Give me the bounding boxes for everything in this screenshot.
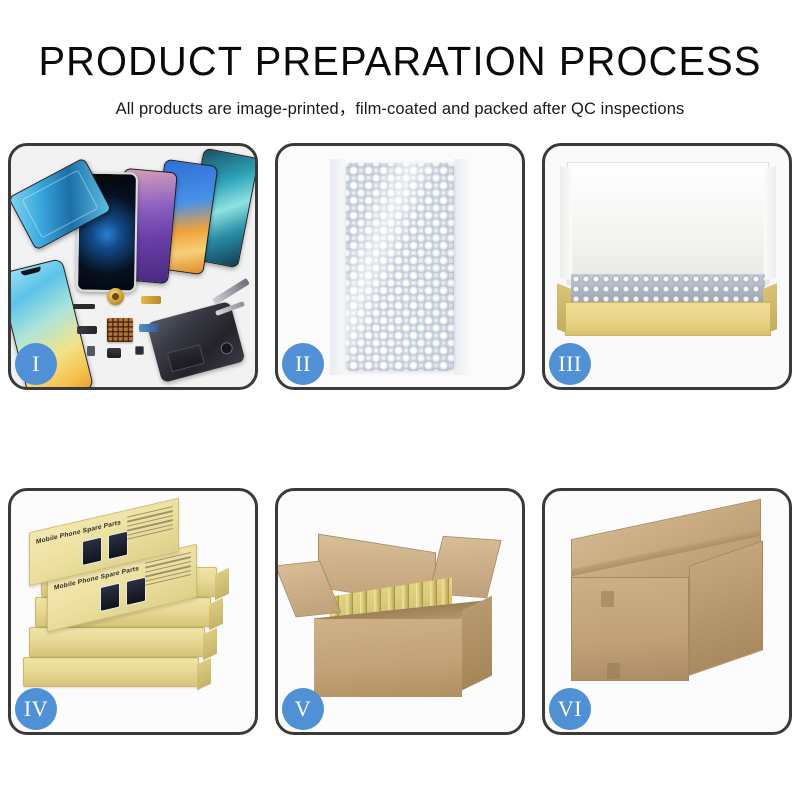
process-step-panel-2: II — [275, 143, 525, 390]
battery-part — [167, 344, 205, 372]
process-step-panel-5: V — [275, 488, 525, 735]
mailer-box-front — [565, 302, 771, 336]
flex-cable-blue-part — [139, 324, 159, 332]
step-numeral-2: II — [295, 353, 311, 375]
carton-front-face — [314, 619, 462, 697]
printed-screen-graphic — [100, 582, 120, 612]
tape-tab — [607, 663, 620, 679]
step-badge-5: V — [282, 688, 324, 730]
connector-part — [87, 346, 95, 356]
process-step-panel-6: VI — [542, 488, 792, 735]
mailer-box-lid — [567, 162, 769, 284]
carton-right-side — [462, 596, 492, 691]
process-step-panel-1: I — [8, 143, 258, 390]
step-badge-3: III — [549, 343, 591, 385]
box-side — [215, 568, 229, 601]
step-numeral-1: I — [32, 353, 40, 375]
bag-sheen — [346, 163, 454, 371]
box-side — [197, 658, 211, 691]
speaker-part — [107, 348, 121, 358]
tape-tab — [601, 591, 614, 607]
bag-edge-left — [330, 159, 346, 375]
bubble-wrap-pouch — [346, 163, 454, 371]
step-numeral-4: IV — [24, 698, 48, 720]
box-side — [203, 628, 217, 661]
carton-front-face — [571, 577, 689, 681]
product-preparation-page: PRODUCT PREPARATION PROCESS All products… — [0, 0, 800, 800]
page-subtitle: All products are image-printed，film-coat… — [0, 83, 800, 119]
kraft-box — [23, 657, 199, 687]
flex-cable-dark-part — [77, 326, 97, 334]
step-numeral-5: V — [295, 698, 311, 720]
chip-grid-part — [107, 318, 133, 342]
step-badge-4: IV — [15, 688, 57, 730]
printed-screen-graphic — [82, 536, 102, 566]
kraft-box — [29, 627, 205, 657]
carton-side-face — [689, 540, 763, 675]
printed-screen-graphic — [126, 576, 146, 606]
bag-edge-right — [454, 159, 470, 375]
printed-screen-graphic — [108, 530, 128, 560]
antenna-bar-part — [73, 304, 95, 309]
box-spec-lines — [127, 506, 173, 543]
phone-back-housing — [146, 301, 245, 383]
page-title: PRODUCT PREPARATION PROCESS — [12, 0, 788, 83]
flex-cable-gold-part — [141, 296, 161, 304]
page-header: PRODUCT PREPARATION PROCESS All products… — [0, 0, 800, 119]
screwdriver-tool — [212, 278, 250, 305]
step-numeral-6: VI — [558, 698, 582, 720]
process-step-panel-4: Mobile Phone Spare Parts Mobile Phone Sp… — [8, 488, 258, 735]
bubble-wrapped-contents — [571, 274, 765, 304]
step-numeral-3: III — [558, 353, 581, 375]
process-step-panel-3: III — [542, 143, 792, 390]
step-badge-1: I — [15, 343, 57, 385]
box-side — [209, 598, 223, 631]
camera-module-part — [135, 346, 144, 355]
process-steps-grid: I II — [8, 143, 792, 743]
coil-part — [107, 288, 124, 305]
step-badge-2: II — [282, 343, 324, 385]
box-stack: Mobile Phone Spare Parts Mobile Phone Sp… — [17, 507, 253, 723]
step-badge-6: VI — [549, 688, 591, 730]
camera-lens-part — [219, 341, 234, 356]
